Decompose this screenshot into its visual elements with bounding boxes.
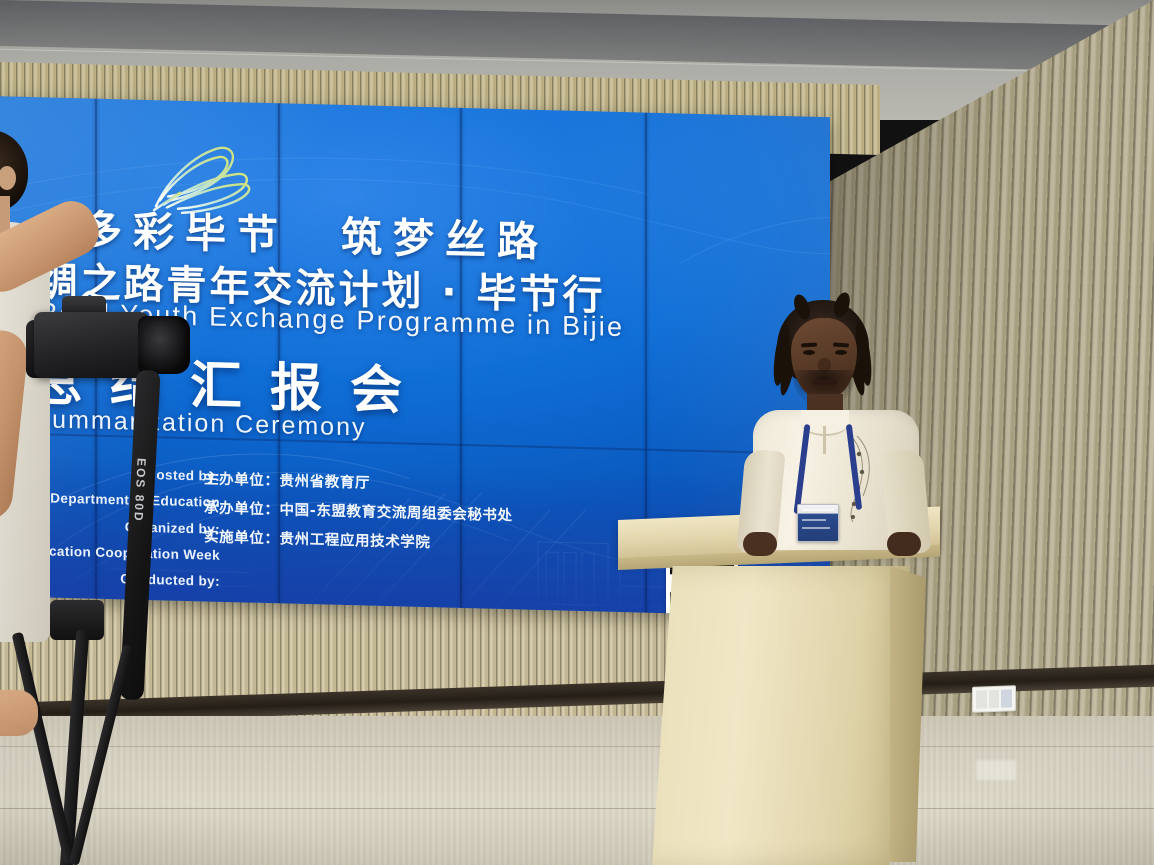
photographer-raised-arm xyxy=(0,193,107,301)
photographer-lower-hand xyxy=(0,690,38,736)
badge-text-line xyxy=(802,527,830,529)
photographer-with-camera: EOS 80D xyxy=(0,130,260,865)
wall-outlet[interactable] xyxy=(972,685,1016,713)
podium-front-panel xyxy=(652,566,910,865)
tripod-leg xyxy=(12,632,76,864)
id-badge xyxy=(797,504,839,542)
shirt-embroidery xyxy=(837,428,883,524)
outlet-socket xyxy=(989,690,1000,708)
badge-text-line xyxy=(802,509,834,511)
eye xyxy=(803,350,815,355)
outlet-socket xyxy=(1001,689,1012,707)
mouth xyxy=(813,380,837,385)
badge-text-line xyxy=(802,519,826,521)
left-hand xyxy=(743,532,777,556)
camera-lens xyxy=(138,316,190,374)
right-hand xyxy=(887,532,921,556)
shirt-placket xyxy=(823,426,826,454)
dslr-camera-body xyxy=(34,312,150,378)
eye xyxy=(835,350,847,355)
outlet-socket xyxy=(976,690,987,708)
wall-outlet-reflection xyxy=(976,760,1016,780)
speaker-at-podium xyxy=(735,300,935,550)
conference-room-scene: 多彩毕节 筑梦丝路 丝绸之路青年交流计划 · 毕节行 Silk Road You… xyxy=(0,0,1154,865)
